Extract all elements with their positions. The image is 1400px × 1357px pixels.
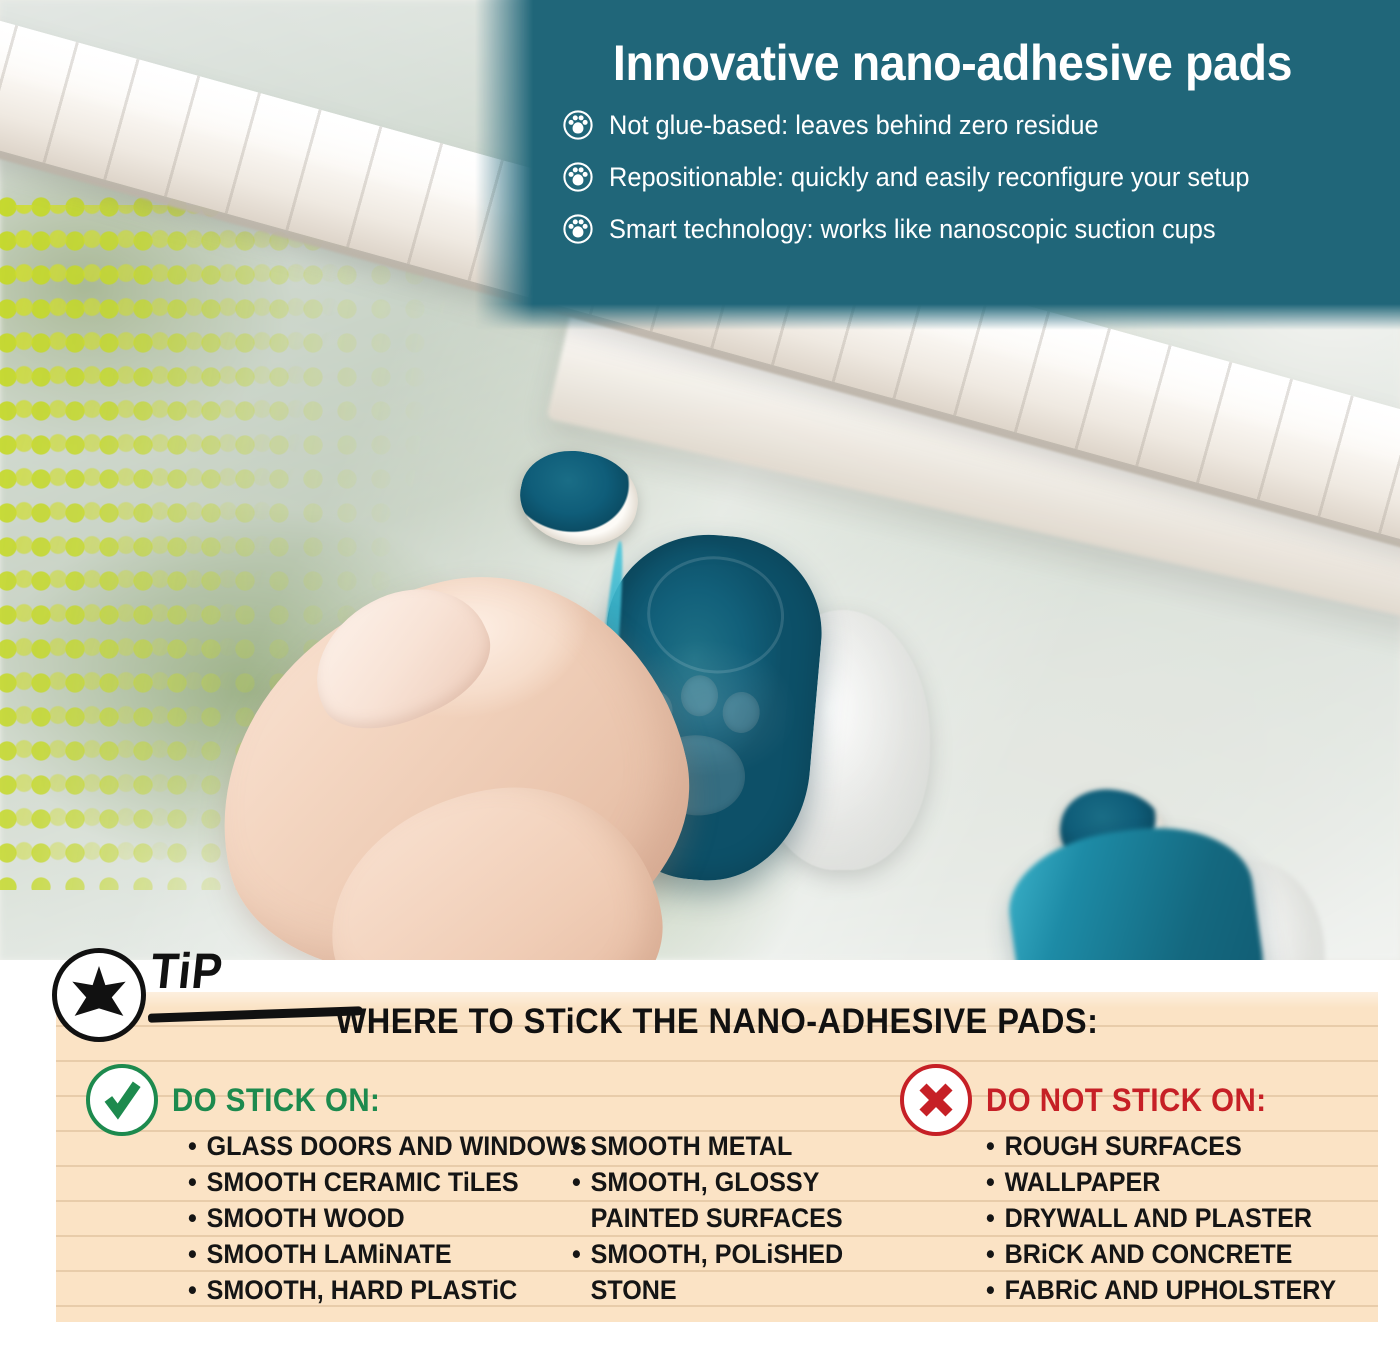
list-item: •SMOOTH, HARD PLASTiC [188, 1272, 587, 1308]
check-circle-icon [86, 1064, 158, 1136]
list-item-continuation: STONE [572, 1272, 843, 1308]
tip-label: TiP [148, 942, 226, 1000]
list-item-label: GLASS DOORS AND WINDOWS [207, 1131, 587, 1161]
list-item-label: SMOOTH CERAMIC TiLES [207, 1167, 519, 1197]
do-stick-header: DO STICK ON: [86, 1064, 398, 1136]
list-item: •BRiCK AND CONCRETE [986, 1236, 1336, 1272]
list-item-continuation: PAINTED SURFACES [572, 1200, 843, 1236]
list-item: •SMOOTH, GLOSSY [572, 1164, 843, 1200]
feature-item: Repositionable: quickly and easily recon… [563, 162, 1383, 192]
feature-label: Repositionable: quickly and easily recon… [609, 162, 1250, 192]
feature-label: Smart technology: works like nanoscopic … [609, 214, 1216, 244]
list-item: •SMOOTH, POLiSHED [572, 1236, 843, 1272]
list-item: •GLASS DOORS AND WINDOWS [188, 1128, 587, 1164]
list-item-label: SMOOTH, HARD PLASTiC [207, 1275, 518, 1305]
paw-print-icon [563, 162, 593, 192]
paw-print-icon [563, 214, 593, 244]
list-item: •SMOOTH METAL [572, 1128, 843, 1164]
list-item-label: FABRiC AND UPHOLSTERY [1005, 1275, 1337, 1305]
do-not-stick-title: DO NOT STICK ON: [986, 1082, 1266, 1119]
list-item-label: SMOOTH LAMiNATE [207, 1239, 452, 1269]
do-stick-section: DO STICK ON: [86, 1064, 398, 1136]
paw-print-icon [563, 110, 593, 140]
feature-list: Not glue-based: leaves behind zero resid… [563, 110, 1383, 266]
list-item: •SMOOTH CERAMIC TiLES [188, 1164, 587, 1200]
list-item: •DRYWALL AND PLASTER [986, 1200, 1336, 1236]
panel-heading: WHERE TO STiCK THE NANO-ADHESIVE PADS: [102, 1002, 1331, 1042]
list-item-label: SMOOTH, GLOSSY [591, 1167, 820, 1197]
list-item-label: PAINTED SURFACES [591, 1203, 843, 1233]
list-item-label: SMOOTH METAL [591, 1131, 793, 1161]
feature-label: Not glue-based: leaves behind zero resid… [609, 110, 1099, 140]
list-item-label: BRiCK AND CONCRETE [1005, 1239, 1293, 1269]
infographic-page: Innovative nano-adhesive pads Not glue-b… [0, 0, 1400, 1357]
feature-item: Smart technology: works like nanoscopic … [563, 214, 1383, 244]
list-item-label: ROUGH SURFACES [1005, 1131, 1242, 1161]
list-item: •SMOOTH LAMiNATE [188, 1236, 587, 1272]
list-item: •SMOOTH WOOD [188, 1200, 587, 1236]
page-title: Innovative nano-adhesive pads [560, 34, 1346, 92]
do-stick-title: DO STICK ON: [172, 1082, 380, 1119]
list-item-label: SMOOTH WOOD [207, 1203, 405, 1233]
do-not-stick-header: DO NOT STICK ON: [900, 1064, 1291, 1136]
list-item: •WALLPAPER [986, 1164, 1336, 1200]
do-not-stick-section: DO NOT STICK ON: [900, 1064, 1291, 1136]
list-item-label: SMOOTH, POLiSHED [591, 1239, 844, 1269]
do-stick-column-2: •SMOOTH METAL •SMOOTH, GLOSSY PAINTED SU… [572, 1128, 864, 1308]
list-item-label: WALLPAPER [1005, 1167, 1161, 1197]
x-circle-icon [900, 1064, 972, 1136]
list-item: •ROUGH SURFACES [986, 1128, 1336, 1164]
feature-item: Not glue-based: leaves behind zero resid… [563, 110, 1383, 140]
do-not-stick-column: •ROUGH SURFACES •WALLPAPER •DRYWALL AND … [986, 1128, 1363, 1308]
header-content: Innovative nano-adhesive pads Not glue-b… [475, 0, 1400, 330]
do-stick-column-1: •GLASS DOORS AND WINDOWS •SMOOTH CERAMIC… [188, 1128, 617, 1308]
list-item-label: STONE [591, 1275, 677, 1305]
list-item: •FABRiC AND UPHOLSTERY [986, 1272, 1336, 1308]
list-item-label: DRYWALL AND PLASTER [1005, 1203, 1312, 1233]
